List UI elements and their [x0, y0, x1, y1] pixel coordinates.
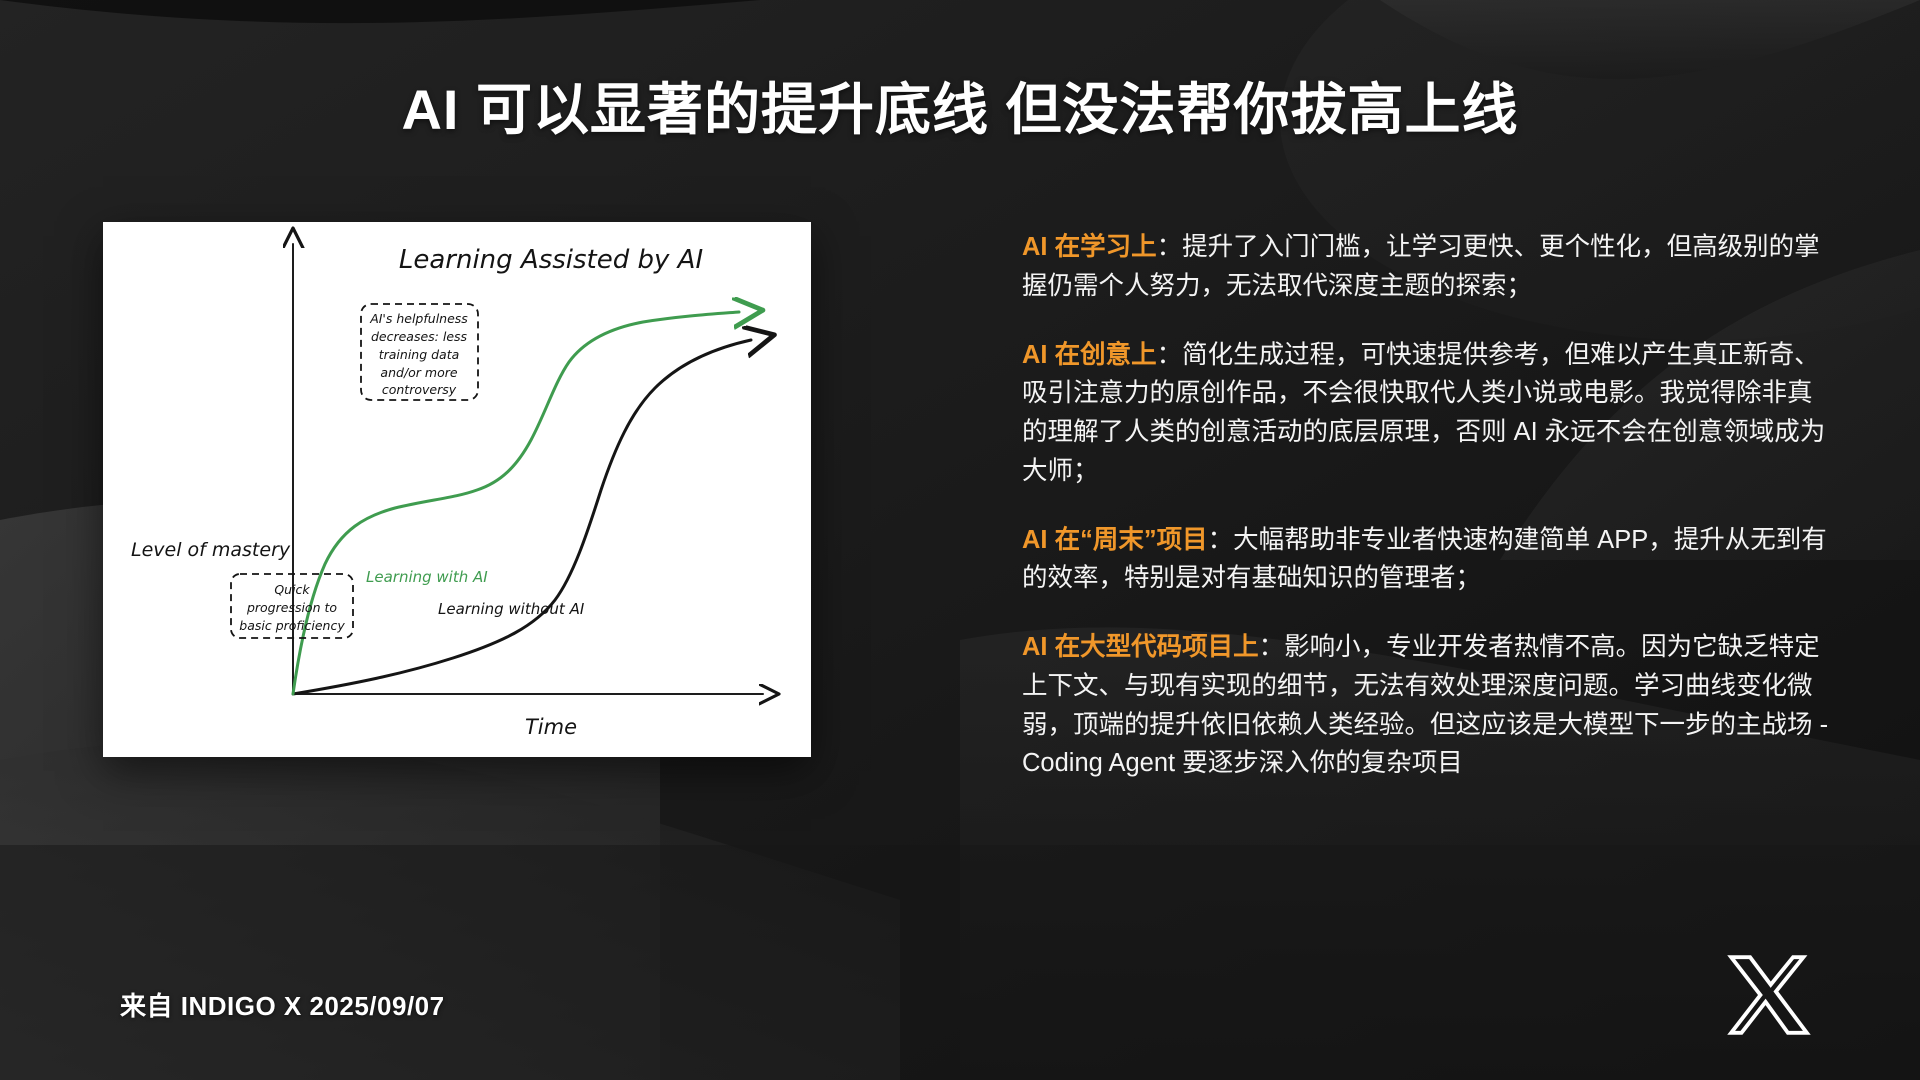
svg-text:basic proficiency: basic proficiency: [239, 618, 345, 633]
commentary-list: AI 在学习上：提升了入门门槛，让学习更快、更个性化，但高级别的掌握仍需个人努力…: [1022, 228, 1834, 783]
learning-curve-chart: Learning Assisted by AI Level of mastery…: [103, 222, 811, 757]
svg-text:Quick: Quick: [274, 582, 310, 597]
svg-text:training data: training data: [379, 347, 460, 362]
page-title: AI 可以显著的提升底线 但没法帮你拔高上线: [0, 78, 1920, 142]
svg-text:and/or more: and/or more: [380, 365, 457, 380]
chart-ylabel: Level of mastery: [131, 539, 291, 561]
series-label-with-ai: Learning with AI: [366, 568, 488, 586]
commentary-lead: AI 在学习上: [1022, 233, 1157, 261]
svg-text:progression to: progression to: [246, 600, 337, 615]
svg-text:controversy: controversy: [382, 382, 457, 397]
commentary-lead: AI 在“周末”项目: [1022, 526, 1208, 554]
source-credit: 来自 INDIGO X 2025/09/07: [120, 986, 445, 1023]
chart-xlabel: Time: [525, 715, 577, 739]
commentary-lead: AI 在大型代码项目上: [1022, 633, 1259, 661]
chart-title: Learning Assisted by AI: [399, 245, 703, 275]
series-label-without-ai: Learning without AI: [438, 600, 585, 618]
commentary-item: AI 在大型代码项目上：影响小，专业开发者热情不高。因为它缺乏特定上下文、与现有…: [1022, 628, 1834, 783]
x-logo: [1726, 952, 1812, 1038]
commentary-lead: AI 在创意上: [1022, 341, 1157, 369]
commentary-item: AI 在学习上：提升了入门门槛，让学习更快、更个性化，但高级别的掌握仍需个人努力…: [1022, 228, 1834, 306]
svg-text:AI's helpfulness: AI's helpfulness: [369, 311, 468, 326]
commentary-item: AI 在“周末”项目：大幅帮助非专业者快速构建简单 APP，提升从无到有的效率，…: [1022, 521, 1834, 599]
svg-text:decreases: less: decreases: less: [371, 329, 468, 344]
commentary-item: AI 在创意上：简化生成过程，可快速提供参考，但难以产生真正新奇、吸引注意力的原…: [1022, 336, 1834, 491]
